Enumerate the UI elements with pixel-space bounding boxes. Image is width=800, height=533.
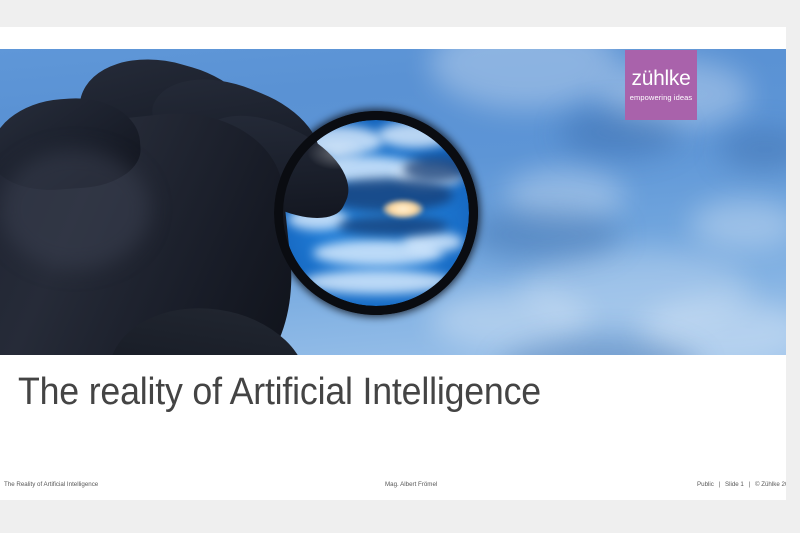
cloud-shape-dark bbox=[470, 209, 620, 261]
hand-silhouette bbox=[0, 59, 350, 355]
hero-image: zühlke empowering ideas bbox=[0, 49, 786, 355]
footer-separator: | bbox=[746, 481, 754, 488]
logo-tagline: empowering ideas bbox=[630, 94, 692, 102]
slide-title: The reality of Artificial Intelligence bbox=[18, 370, 541, 414]
zuehlke-logo: zühlke empowering ideas bbox=[625, 50, 697, 120]
slide-canvas[interactable]: zühlke empowering ideas The reality of A… bbox=[0, 27, 786, 500]
sphere-cloud-dark bbox=[403, 156, 469, 182]
slide-footer: The Reality of Artificial Intelligence M… bbox=[0, 477, 786, 493]
presentation-viewer: zühlke empowering ideas The reality of A… bbox=[0, 0, 800, 533]
sphere-cloud bbox=[378, 122, 453, 148]
footer-author: Mag. Albert Frömel bbox=[385, 477, 437, 493]
footer-separator: | bbox=[716, 481, 724, 488]
footer-deck-name: The Reality of Artificial Intelligence bbox=[4, 477, 98, 493]
logo-wordmark: zühlke bbox=[632, 68, 691, 89]
sun-glint bbox=[383, 200, 423, 218]
footer-classification: Public bbox=[697, 481, 714, 488]
sphere-cloud-dark bbox=[338, 216, 448, 236]
footer-copyright: © Zühlke 202 bbox=[755, 481, 786, 488]
footer-meta: Public | Slide 1 | © Zühlke 202 bbox=[697, 477, 786, 493]
footer-slide-number: Slide 1 bbox=[725, 481, 744, 488]
knuckle-shading bbox=[0, 149, 150, 269]
specular-highlight bbox=[307, 136, 367, 170]
